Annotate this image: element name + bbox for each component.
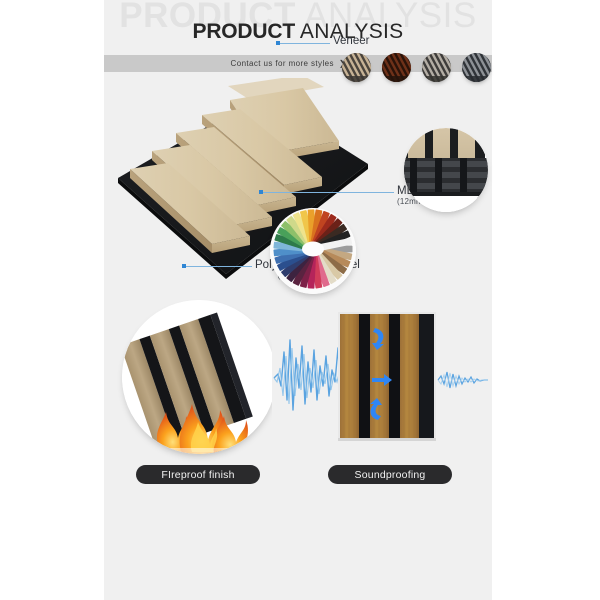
fiber-leader-line bbox=[186, 266, 252, 267]
swatch-charcoal-art bbox=[462, 53, 491, 82]
fireproof-photo bbox=[122, 300, 276, 454]
content-panel: PRODUCT ANALYSIS PRODUCT ANALYSIS Contac… bbox=[104, 0, 492, 600]
header: PRODUCT ANALYSIS PRODUCT ANALYSIS bbox=[104, 0, 492, 52]
swatch-grey-oak-art bbox=[422, 53, 451, 82]
color-fan-art bbox=[270, 208, 356, 294]
mdf-leader-line bbox=[263, 192, 394, 193]
callout-veneer-label: Veneer bbox=[333, 35, 369, 47]
pill-soundproofing[interactable]: Soundproofing bbox=[328, 465, 452, 484]
mdf-detail-photo bbox=[404, 128, 488, 212]
callout-veneer: Veneer bbox=[333, 35, 369, 47]
page-title: PRODUCT ANALYSIS bbox=[104, 20, 492, 44]
pill-fireproof-finish[interactable]: FIreproof finish bbox=[136, 465, 260, 484]
swatch-walnut-dark[interactable] bbox=[382, 53, 411, 82]
infographic-page: PRODUCT ANALYSIS PRODUCT ANALYSIS Contac… bbox=[0, 0, 600, 600]
fireproof-art bbox=[122, 300, 276, 454]
swatch-walnut-dark-art bbox=[382, 53, 411, 82]
swatch-grey-oak[interactable] bbox=[422, 53, 451, 82]
swatch-charcoal[interactable] bbox=[462, 53, 491, 82]
swatch-light-oak-art bbox=[342, 53, 371, 82]
page-title-bold: PRODUCT bbox=[193, 20, 295, 43]
pill-fireproof-label: FIreproof finish bbox=[161, 469, 234, 481]
contact-banner-text: Contact us for more styles bbox=[231, 59, 334, 68]
soundproof-art bbox=[272, 300, 490, 455]
swatch-light-oak[interactable] bbox=[342, 53, 371, 82]
pill-soundproof-label: Soundproofing bbox=[355, 469, 426, 481]
soundproof-photo bbox=[272, 300, 490, 455]
color-fan-photo bbox=[270, 208, 356, 294]
veneer-leader-line bbox=[280, 43, 330, 44]
mdf-detail-art bbox=[404, 128, 488, 212]
